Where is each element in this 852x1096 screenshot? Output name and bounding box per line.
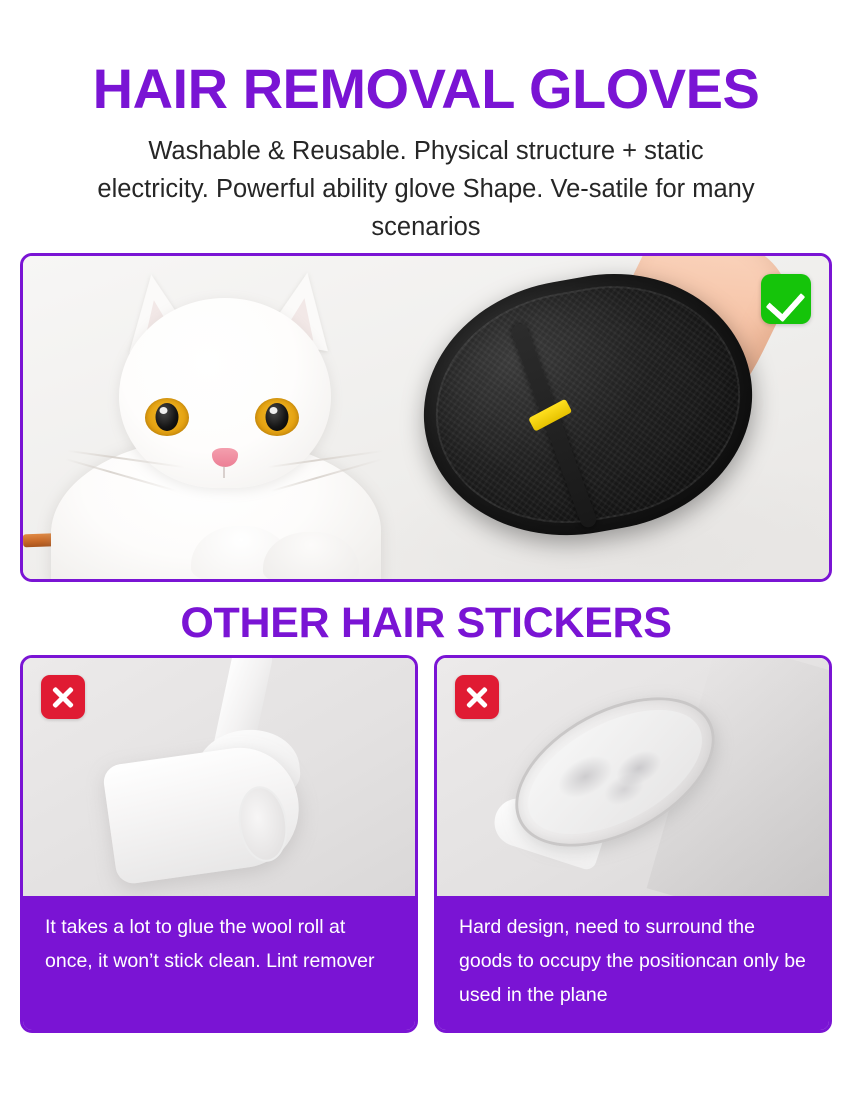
page-subtitle: Washable & Reusable. Physical structure … xyxy=(96,132,756,246)
comparison-card-list: It takes a lot to glue the wool roll at … xyxy=(20,655,832,1033)
slicker-brush-photo xyxy=(437,658,829,896)
check-badge-icon xyxy=(761,274,811,324)
lint-roller-photo xyxy=(23,658,415,896)
x-badge-icon xyxy=(455,675,499,719)
card-caption: Hard design, need to surround the goods … xyxy=(437,896,829,1030)
cat-pupil-right xyxy=(266,403,289,431)
lint-roller-card: It takes a lot to glue the wool roll at … xyxy=(20,655,418,1033)
hero-photo xyxy=(23,256,829,579)
page-title: HAIR REMOVAL GLOVES xyxy=(0,58,852,120)
card-caption: It takes a lot to glue the wool roll at … xyxy=(23,896,415,1030)
white-cat-image xyxy=(41,256,441,579)
cat-head xyxy=(119,298,331,488)
section-title: OTHER HAIR STICKERS xyxy=(0,598,852,648)
cat-mouth xyxy=(223,466,225,478)
cat-eye-right xyxy=(255,398,299,436)
glove-seam xyxy=(510,322,599,530)
cat-pupil-left xyxy=(156,403,179,431)
cat-nose xyxy=(212,448,238,467)
slicker-brush-card: Hard design, need to surround the goods … xyxy=(434,655,832,1033)
cat-eye-left xyxy=(145,398,189,436)
hero-product-card xyxy=(20,253,832,582)
x-badge-icon xyxy=(41,675,85,719)
